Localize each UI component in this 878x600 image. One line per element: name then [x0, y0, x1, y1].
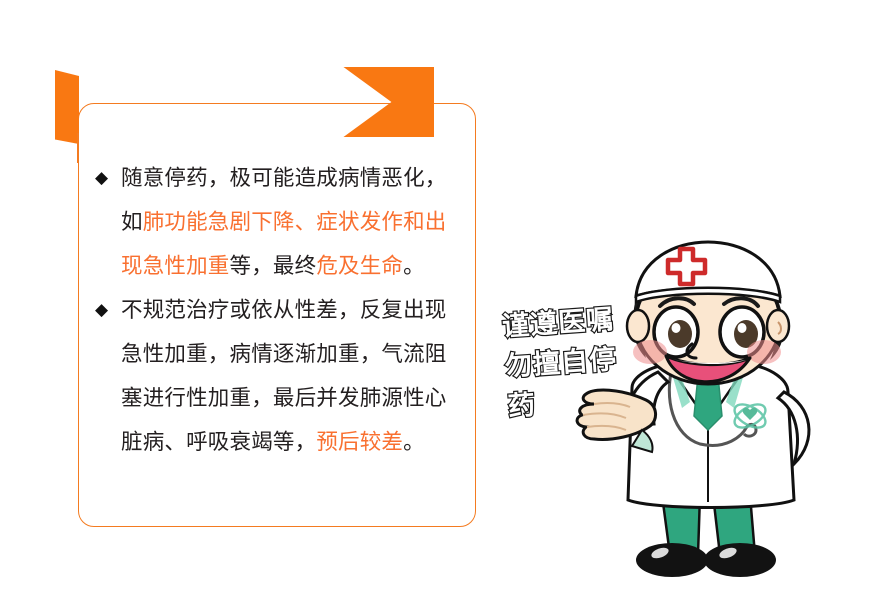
bullet-segment: 。	[403, 254, 425, 278]
doctor-illustration: 谨遵医嘱勿擅自停药	[495, 240, 878, 600]
bullet-text: 不规范治疗或依从性差，反复出现急性加重，病情逐渐加重，气流阻塞进行性加重，最后并…	[95, 288, 463, 464]
diamond-bullet-icon: ◆	[95, 156, 108, 200]
list-item: ◆ 不规范治疗或依从性差，反复出现急性加重，病情逐渐加重，气流阻塞进行性加重，最…	[95, 288, 463, 464]
bullet-segment: 等，最终	[230, 254, 317, 278]
info-card: ◆ 随意停药，极可能造成病情恶化，如肺功能急剧下降、症状发作和出现急性加重等，最…	[78, 103, 476, 527]
diamond-bullet-icon: ◆	[95, 288, 108, 332]
doctor-figure-graphic	[550, 240, 878, 600]
bullet-segment: 。	[403, 430, 425, 454]
doctor-cap-icon	[636, 242, 780, 302]
banner-left-fold	[55, 70, 79, 144]
banner-fold-stem	[77, 133, 79, 163]
card-body: ◆ 随意停药，极可能造成病情恶化，如肺功能急剧下降、症状发作和出现急性加重等，最…	[95, 156, 463, 464]
poster-canvas: ◆ 随意停药，极可能造成病情恶化，如肺功能急剧下降、症状发作和出现急性加重等，最…	[0, 0, 878, 600]
shoes-icon	[636, 543, 776, 577]
list-item: ◆ 随意停药，极可能造成病情恶化，如肺功能急剧下降、症状发作和出现急性加重等，最…	[95, 156, 463, 288]
bullet-segment-highlight: 预后较差	[316, 430, 403, 454]
bullet-text: 随意停药，极可能造成病情恶化，如肺功能急剧下降、症状发作和出现急性加重等，最终危…	[95, 156, 463, 288]
bullet-segment-highlight: 危及生命	[316, 254, 403, 278]
